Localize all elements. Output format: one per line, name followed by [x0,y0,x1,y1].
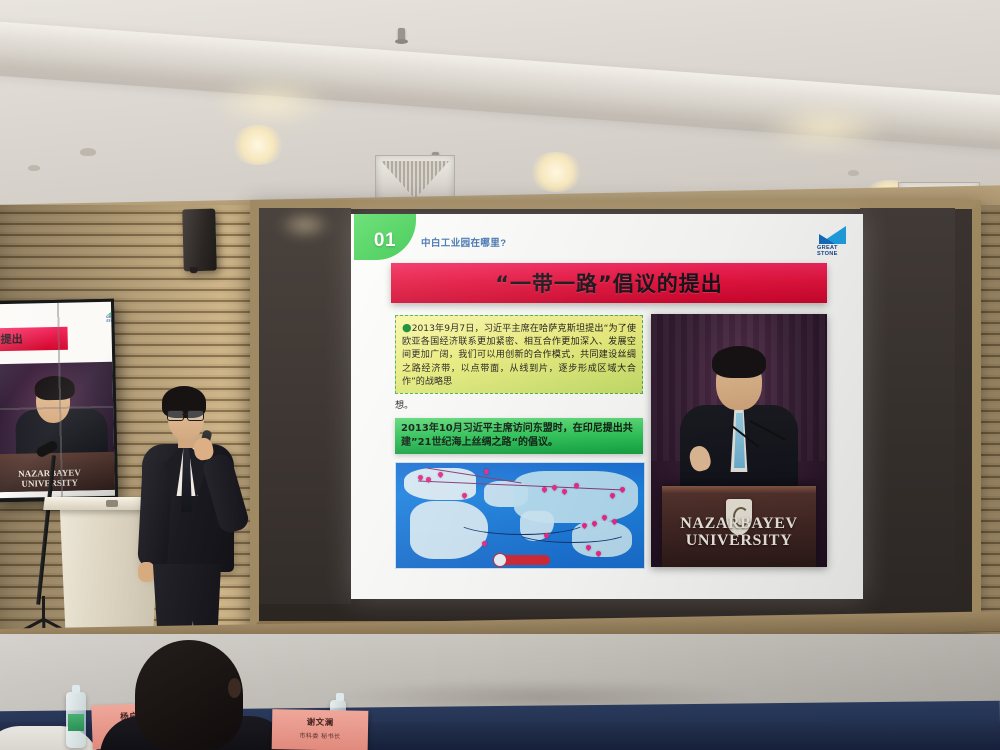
yellow-highlight-box: ●2013年9月7日，习近平主席在哈萨克斯坦提出“为了使欧亚各国经济联系更加紧密… [395,315,643,394]
photo-hair [712,346,766,378]
bullet-icon: ● [402,321,412,334]
monitor-title: 倡议的提出 [0,331,23,348]
lamp-reflection [278,212,332,238]
eyeglasses-icon [167,410,205,419]
slide-title-banner: “一带一路”倡议的提出 [391,263,827,303]
great-stone-logo: GREAT STONE [813,226,853,260]
logo-line2: STONE [817,251,838,257]
monitor-photo: NAZARBAYEV UNIVERSITY [0,362,118,493]
section-number: 01 [374,230,396,252]
presenter-left-arm [137,459,173,568]
photo-caption-line2: UNIVERSITY [651,532,827,549]
nameplate: 谢文澜 市科委 秘书长 [272,709,369,750]
monitor-slide: 倡议的提出 GREATSTONE NAZARBAYEV UNIVERSITY [0,299,118,499]
wall-speaker [182,209,217,272]
section-number-badge: 01 [354,214,416,260]
logo-text: GREAT STONE [817,245,838,258]
cove-light-glow [760,105,890,151]
green-highlight-box: 2013年10月习近平主席访问东盟时，在印尼提出共建”21世纪海上丝绸之路“的倡… [395,418,643,454]
audience-member-ear [228,678,241,698]
cove-light-glow [212,80,332,124]
lectern-clip [106,500,118,507]
slide-title: “一带一路”倡议的提出 [495,268,723,298]
smoke-detector-icon [80,148,96,156]
smoke-detector-icon [28,165,40,171]
section-question: 中白工业园在哪里? [421,235,506,249]
presenter-left-hand [138,562,155,582]
acoustic-panel-left [259,208,351,604]
photo-university-caption: NAZARBAYEV UNIVERSITY [651,515,827,549]
downlight [528,152,584,192]
downlight [230,125,286,165]
projected-slide: 01 中白工业园在哪里? GREAT STONE “一带一路”倡议的提出 ●20… [351,214,863,599]
monitor-title-banner: 倡议的提出 [0,327,68,352]
sprinkler-head-icon [398,28,405,41]
confidence-monitor: 倡议的提出 GREATSTONE NAZARBAYEV UNIVERSITY [0,299,118,503]
xi-jinping-speech-photo: NAZARBAYEV UNIVERSITY [651,314,827,567]
acoustic-panel-right [860,208,955,604]
map-sea-route-branch [516,521,628,543]
logo-triangle-accent-icon [819,234,835,244]
map-pin-icon [481,540,488,547]
map-source-logo [498,555,550,565]
audience-member-head [135,640,243,750]
smoke-detector-icon [848,170,859,176]
nameplate-role: 市科委 秘书长 [272,730,368,741]
ceiling [0,0,1000,205]
yellow-box-body: 2013年9月7日，习近平主席在哈萨克斯坦提出“为了使欧亚各国经济联系更加紧密、… [402,324,636,387]
water-bottle [66,692,86,748]
photo-podium-top [662,486,817,493]
green-box-text: 2013年10月习近平主席访问东盟时，在印尼提出共建”21世纪海上丝绸之路“的倡… [401,422,637,450]
map-pin-icon [483,468,490,475]
photo-caption-line1: NAZARBAYEV [651,515,827,532]
tripod-pole [42,596,45,620]
conference-hall-photo: 01 中白工业园在哪里? GREAT STONE “一带一路”倡议的提出 ●20… [0,0,1000,750]
monitor-photo-hair [34,375,74,400]
yellow-box-text: ●2013年9月7日，习近平主席在哈萨克斯坦提出“为了使欧亚各国经济联系更加紧密… [402,321,636,389]
nameplate-name: 谢文澜 [272,715,368,729]
monitor-photo-caption: NAZARBAYEV UNIVERSITY [0,468,118,490]
yellow-box-tail: 想。 [395,397,413,411]
belt-and-road-map [395,462,645,569]
